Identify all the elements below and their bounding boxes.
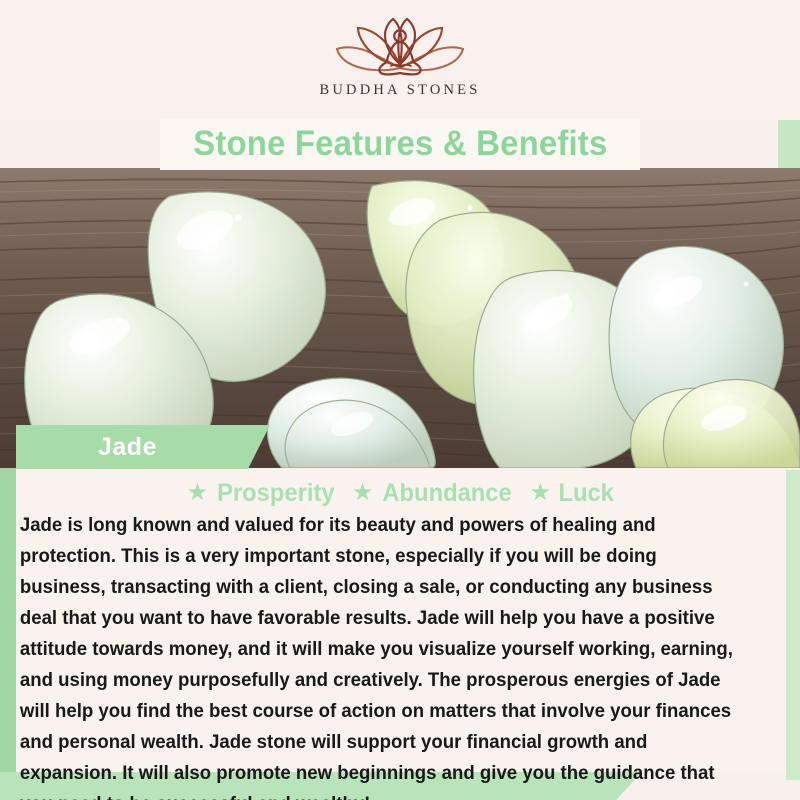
stone-name-label-diagonal	[248, 425, 270, 469]
star-icon: ★	[187, 481, 209, 505]
title-banner: Stone Features & Benefits	[160, 118, 640, 170]
jade-stones-illustration	[0, 168, 800, 468]
benefit-label: Abundance	[383, 479, 512, 508]
benefits-row: ★ Prosperity ★ Abundance ★ Luck	[16, 469, 786, 508]
benefit-label: Luck	[558, 479, 613, 508]
benefit-item: ★ Abundance	[352, 479, 516, 508]
brand-wordmark: BUDDHA STONES	[320, 82, 481, 99]
page-title: Stone Features & Benefits	[193, 124, 607, 164]
benefit-label: Prosperity	[217, 479, 334, 508]
star-icon: ★	[352, 481, 374, 505]
stone-description: Jade is long known and valued for its be…	[16, 508, 759, 800]
star-icon: ★	[529, 481, 551, 505]
benefit-item: ★ Luck	[529, 479, 615, 508]
frame-right-bottom-accent	[786, 470, 800, 780]
stone-name: Jade	[98, 425, 157, 469]
brand-header: BUDDHA STONES	[0, 0, 800, 120]
stone-benefits-card: BUDDHA STONES Stone Features & Benefits	[0, 0, 800, 800]
lotus-meditation-icon	[325, 16, 475, 78]
content-panel: ★ Prosperity ★ Abundance ★ Luck Jade is …	[16, 469, 786, 772]
jade-stones-photo	[0, 168, 800, 468]
benefit-item: ★ Prosperity	[187, 479, 338, 508]
